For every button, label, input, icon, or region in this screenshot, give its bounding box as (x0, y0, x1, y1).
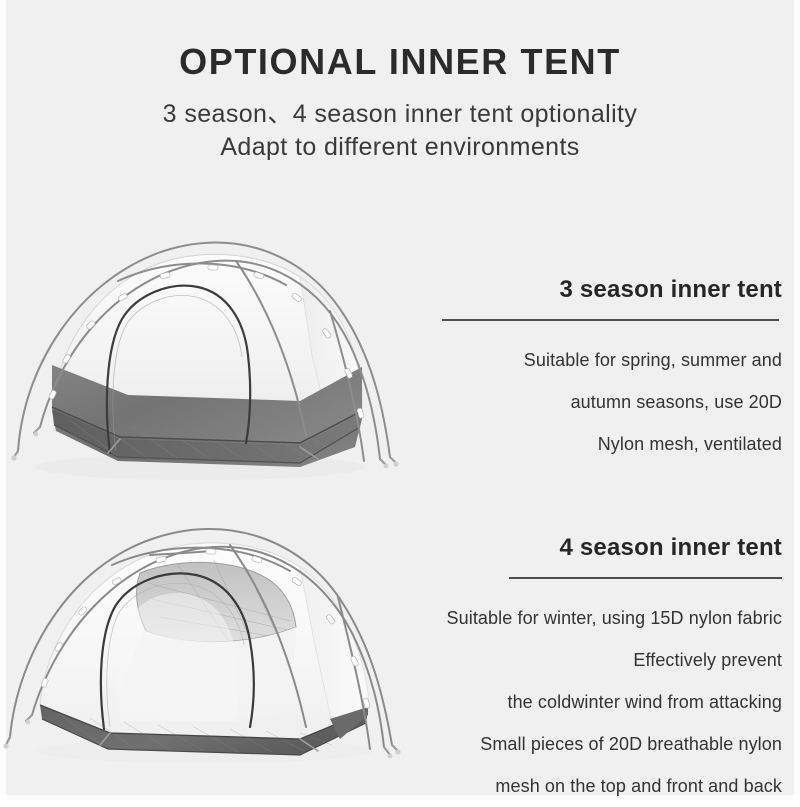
body-line: autumn seasons, use 20D (442, 381, 782, 423)
page-subtitle: 3 season、4 season inner tent optionality… (0, 98, 800, 164)
three-season-body: Suitable for spring, summer and autumn s… (442, 339, 782, 465)
four-season-heading: 4 season inner tent (382, 533, 782, 563)
four-season-inner-tent-illustration (0, 505, 430, 790)
page-header: OPTIONAL INNER TENT 3 season、4 season in… (0, 40, 800, 164)
infographic-page: OPTIONAL INNER TENT 3 season、4 season in… (0, 0, 800, 800)
body-line: mesh on the top and front and back (382, 765, 782, 807)
body-line: Nylon mesh, ventilated (442, 423, 782, 465)
three-season-divider (442, 319, 779, 321)
four-season-divider (509, 577, 782, 579)
section-four-season: 4 season inner tent Suitable for winter,… (0, 505, 800, 790)
body-line: Effectively prevent (382, 639, 782, 681)
four-season-body: Suitable for winter, using 15D nylon fab… (382, 597, 782, 807)
subtitle-line-2: Adapt to different environments (0, 131, 800, 164)
page-title: OPTIONAL INNER TENT (0, 40, 800, 84)
three-season-info: 3 season inner tent Suitable for spring,… (442, 275, 782, 465)
section-three-season: 3 season inner tent Suitable for spring,… (0, 215, 800, 505)
body-line: Suitable for spring, summer and (442, 339, 782, 381)
body-line: Suitable for winter, using 15D nylon fab… (382, 597, 782, 639)
body-line: Small pieces of 20D breathable nylon (382, 723, 782, 765)
four-season-info: 4 season inner tent Suitable for winter,… (382, 533, 782, 807)
three-season-inner-tent-illustration (0, 215, 430, 505)
body-line: the coldwinter wind from attacking (382, 681, 782, 723)
subtitle-line-1: 3 season、4 season inner tent optionality (0, 98, 800, 131)
three-season-heading: 3 season inner tent (442, 275, 782, 305)
